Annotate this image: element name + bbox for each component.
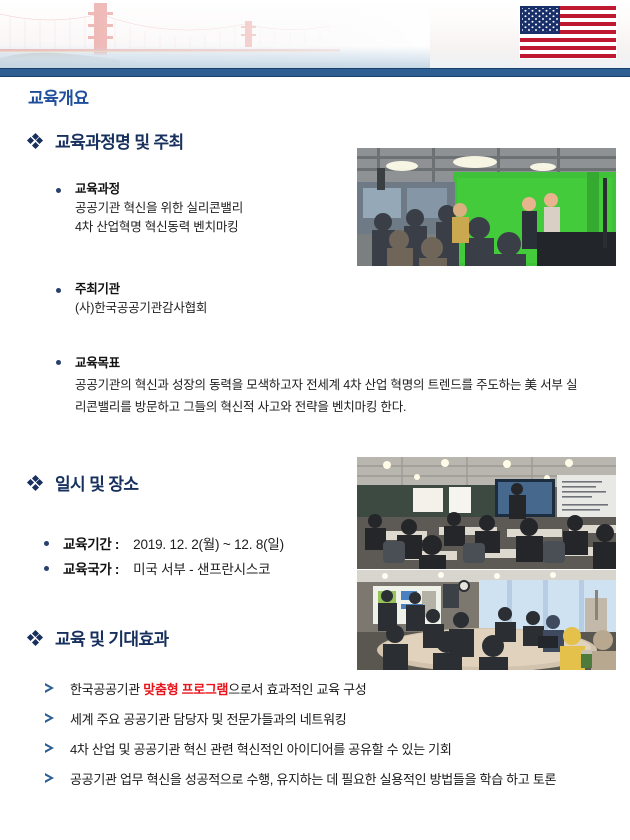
- section-heading-course: 교육과정명 및 주최: [28, 128, 184, 153]
- arrow-bullet-icon: [44, 742, 56, 756]
- header-banner: [0, 0, 630, 68]
- list-item: 4차 산업 및 공공기관 혁신 관련 혁신적인 아이디어를 공유할 수 있는 기…: [44, 739, 604, 760]
- section-title-course: 교육과정명 및 주최: [55, 128, 184, 153]
- header-divider: [0, 68, 630, 77]
- photo-green-screen-studio: [357, 148, 616, 266]
- diamond-bullet-icon: [28, 134, 42, 148]
- effect-text-1: 한국공공기관 맞춤형 프로그램으로서 효과적인 교육 구성: [70, 679, 366, 700]
- effect-1-pre: 한국공공기관: [70, 682, 143, 697]
- goal-label: 교육목표: [75, 352, 586, 374]
- course-line-1: 공공기관 혁신을 위한 실리콘밸리: [75, 199, 243, 218]
- dot-bullet-icon: [44, 541, 49, 546]
- arrow-bullet-icon: [44, 712, 56, 726]
- section-heading-effect: 교육 및 기대효과: [28, 625, 169, 650]
- arrow-bullet-icon: [44, 682, 56, 696]
- country-label: 교육국가 :: [63, 558, 119, 578]
- period-label: 교육기간 :: [63, 533, 119, 553]
- diamond-bullet-icon: [28, 631, 42, 645]
- photo-conference-meeting: [357, 570, 616, 670]
- course-label: 교육과정: [75, 180, 243, 199]
- row-training-period: 교육기간 : 2019. 12. 2(월) ~ 12. 8(일): [44, 533, 284, 553]
- host-line-1: (사)한국공공기관감사협회: [75, 299, 207, 318]
- course-line-2: 4차 산업혁명 혁신동력 벤치마킹: [75, 218, 243, 237]
- list-item: 세계 주요 공공기관 담당자 및 전문가들과의 네트워킹: [44, 709, 604, 730]
- expected-effects-list: 한국공공기관 맞춤형 프로그램으로서 효과적인 교육 구성 세계 주요 공공기관…: [44, 679, 604, 799]
- list-item-goal: 교육목표 공공기관의 혁신과 성장의 동력을 모색하고자 전세계 4차 산업 혁…: [56, 352, 586, 418]
- list-item-host: 주최기관 (사)한국공공기관감사협회: [56, 280, 207, 318]
- effect-text-3: 4차 산업 및 공공기관 혁신 관련 혁신적인 아이디어를 공유할 수 있는 기…: [70, 739, 452, 760]
- country-value: 미국 서부 - 샌프란시스코: [133, 558, 270, 578]
- dot-bullet-icon: [56, 360, 61, 365]
- section-heading-when: 일시 및 장소: [28, 470, 138, 495]
- diamond-bullet-icon: [28, 476, 42, 490]
- section-title-when: 일시 및 장소: [55, 470, 138, 495]
- photo-classroom-lecture: [357, 457, 616, 569]
- section-title-effect: 교육 및 기대효과: [55, 625, 169, 650]
- host-label: 주최기관: [75, 280, 207, 299]
- us-flag-icon: [520, 6, 616, 58]
- dot-bullet-icon: [44, 566, 49, 571]
- period-value: 2019. 12. 2(월) ~ 12. 8(일): [133, 533, 284, 553]
- effect-1-highlight: 맞춤형 프로그램: [143, 682, 228, 697]
- water-gradient: [0, 46, 430, 68]
- dot-bullet-icon: [56, 288, 61, 293]
- goal-paragraph: 공공기관의 혁신과 성장의 동력을 모색하고자 전세계 4차 산업 혁명의 트렌…: [75, 374, 586, 418]
- arrow-bullet-icon: [44, 772, 56, 786]
- dot-bullet-icon: [56, 188, 61, 193]
- row-training-country: 교육국가 : 미국 서부 - 샌프란시스코: [44, 558, 270, 578]
- effect-1-post: 으로서 효과적인 교육 구성: [228, 682, 366, 697]
- list-item: 공공기관 업무 혁신을 성공적으로 수행, 유지하는 데 필요한 실용적인 방법…: [44, 769, 604, 790]
- page-title: 교육개요: [28, 84, 89, 109]
- list-item-course: 교육과정 공공기관 혁신을 위한 실리콘밸리 4차 산업혁명 혁신동력 벤치마킹: [56, 180, 243, 237]
- effect-text-2: 세계 주요 공공기관 담당자 및 전문가들과의 네트워킹: [70, 709, 346, 730]
- list-item: 한국공공기관 맞춤형 프로그램으로서 효과적인 교육 구성: [44, 679, 604, 700]
- effect-text-4: 공공기관 업무 혁신을 성공적으로 수행, 유지하는 데 필요한 실용적인 방법…: [70, 769, 556, 790]
